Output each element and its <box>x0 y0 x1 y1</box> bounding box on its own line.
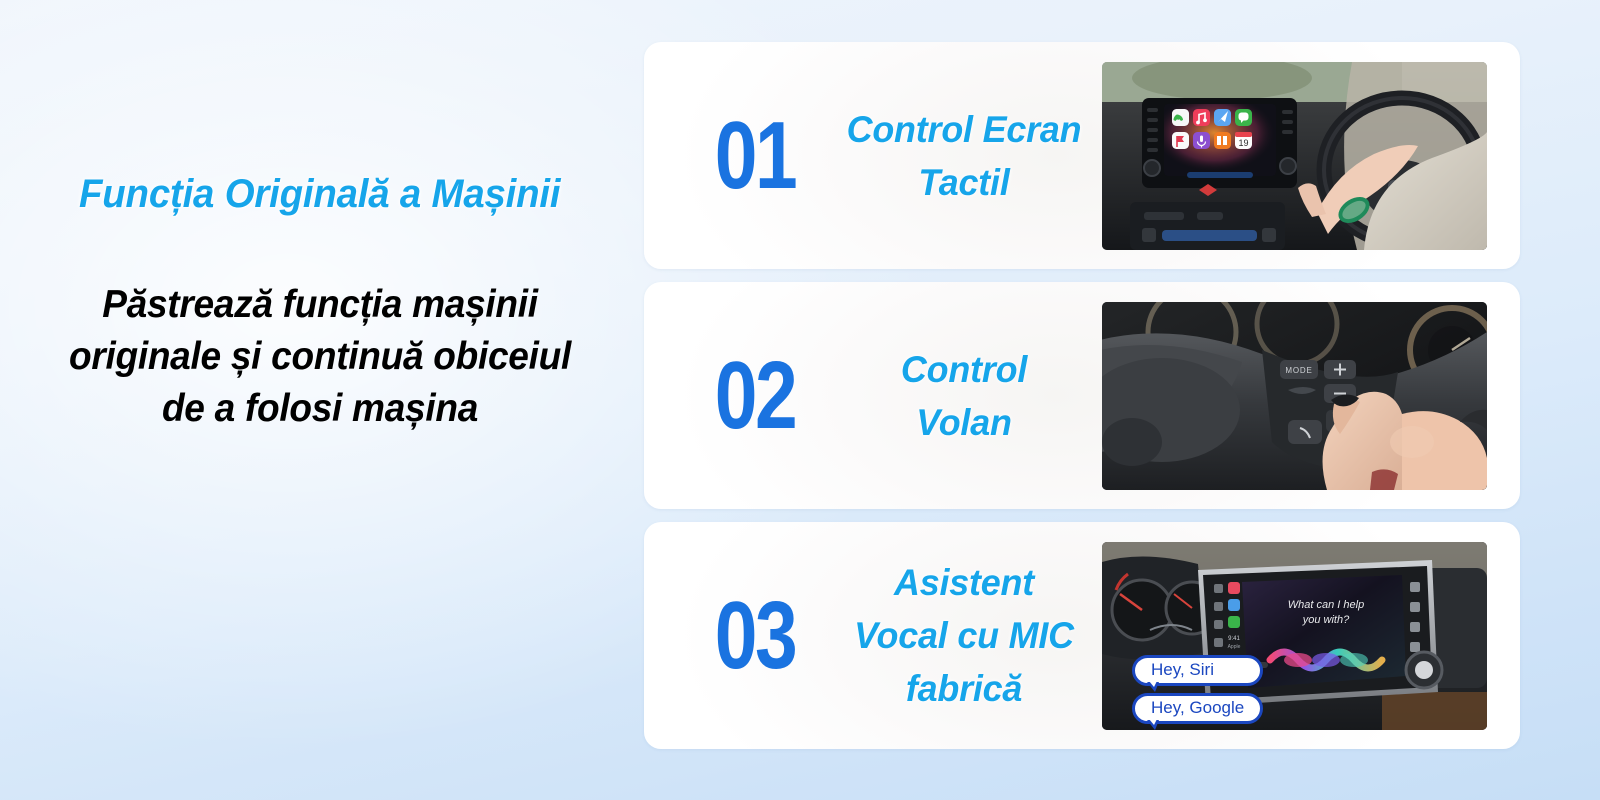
intro-panel: Funcția Originală a Mașinii Păstrează fu… <box>0 120 640 500</box>
car-touchscreen-carplay-photo: 19 <box>1102 62 1487 250</box>
intro-line: originale și continuă obiceiul <box>16 331 624 383</box>
intro-line: Păstrează funcția mașinii <box>16 279 624 331</box>
feature-card[interactable]: 01 Control Ecran Tactil <box>644 42 1520 269</box>
feature-label-line: fabrică <box>840 662 1088 715</box>
feature-number: 01 <box>698 108 812 204</box>
siri-prompt-line-2: you with? <box>1302 614 1350 626</box>
feature-number: 02 <box>698 348 812 444</box>
intro-line: de a folosi mașina <box>16 383 624 435</box>
page-title: Funcția Originală a Mașinii <box>79 172 560 217</box>
bubble-hey-google: Hey, Google <box>1132 693 1263 724</box>
feature-number: 03 <box>698 588 812 684</box>
voice-trigger-bubbles: Hey, Siri Hey, Google <box>1132 655 1263 724</box>
feature-card[interactable]: 02 Control Volan <box>644 282 1520 509</box>
intro-description: Păstrează funcția mașinii originale și c… <box>16 279 624 435</box>
svg-text:19: 19 <box>1238 138 1248 148</box>
feature-card-list: 01 Control Ecran Tactil <box>644 42 1524 762</box>
feature-label-line: Volan <box>840 396 1088 449</box>
feature-label-line: Vocal cu MIC <box>840 609 1088 662</box>
svg-text:9:41: 9:41 <box>1228 636 1240 642</box>
feature-label: Control Ecran Tactil <box>830 103 1098 209</box>
voice-assistant-dashboard-photo: 9:41 Apple What can I help you with? <box>1102 542 1487 730</box>
siri-prompt-line-1: What can I help <box>1288 599 1364 611</box>
feature-label-line: Control <box>840 343 1088 396</box>
svg-text:MODE: MODE <box>1285 366 1312 375</box>
steering-wheel-controls-photo: MODE <box>1102 302 1487 490</box>
feature-label-line: Asistent <box>840 556 1088 609</box>
feature-label: Control Volan <box>830 343 1098 449</box>
feature-label: Asistent Vocal cu MIC fabrică <box>830 556 1098 715</box>
bubble-hey-siri: Hey, Siri <box>1132 655 1263 686</box>
feature-label-line: Tactil <box>840 156 1088 209</box>
feature-card[interactable]: 03 Asistent Vocal cu MIC fabrică <box>644 522 1520 749</box>
feature-label-line: Control Ecran <box>840 103 1088 156</box>
poster-canvas: Funcția Originală a Mașinii Păstrează fu… <box>0 0 1600 800</box>
svg-text:Apple: Apple <box>1228 644 1241 650</box>
